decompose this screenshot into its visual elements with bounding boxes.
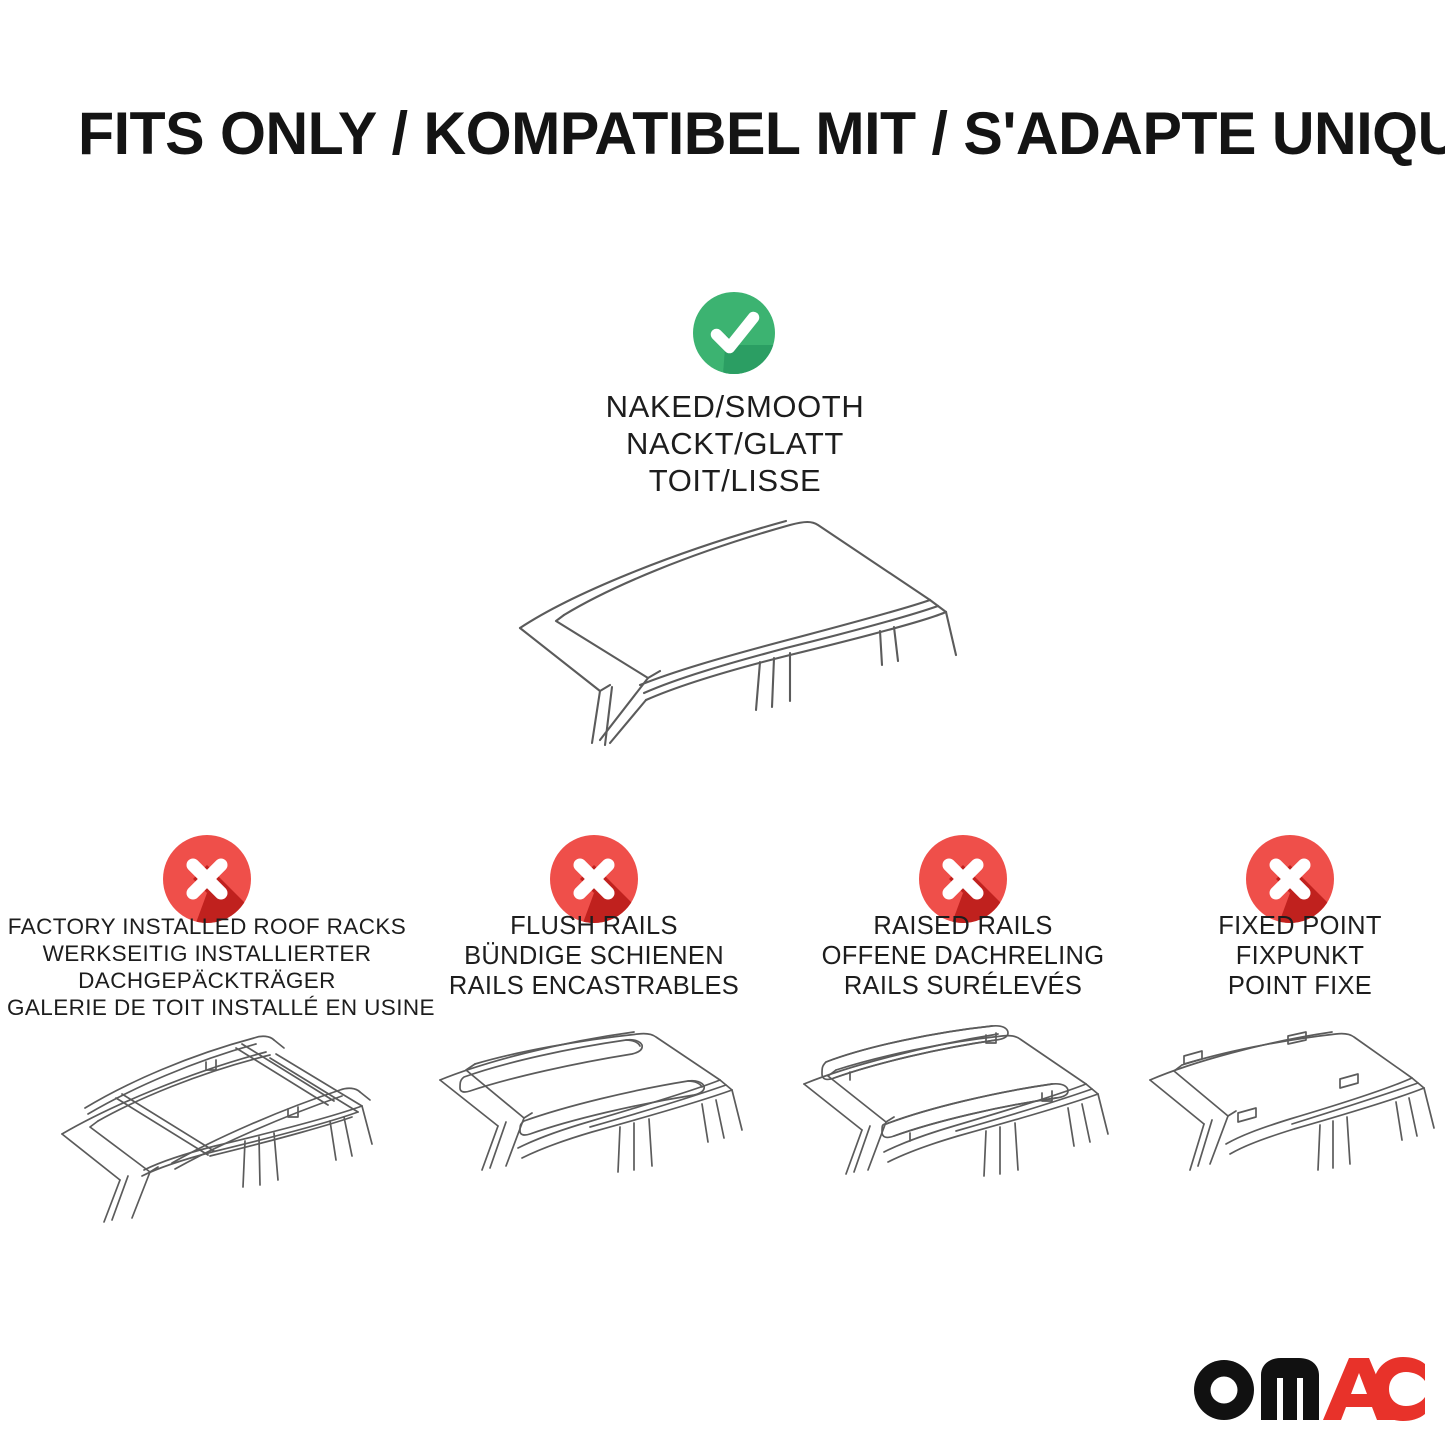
compatible-label: NAKED/SMOOTH NACKT/GLATT TOIT/LISSE <box>475 388 995 499</box>
label-line-1: FACTORY INSTALLED ROOF RACKS <box>7 913 407 940</box>
compatible-label-line-2: NACKT/GLATT <box>475 425 995 462</box>
infographic-canvas: FITS ONLY / KOMPATIBEL MIT / S'ADAPTE UN… <box>0 0 1445 1445</box>
incompatible-label-raised-rails: RAISED RAILS OFFENE DACHRELING RAILS SUR… <box>773 911 1153 1001</box>
label-line-1: FLUSH RAILS <box>404 911 784 941</box>
label-line-3: DACHGEPÄCKTRÄGER <box>7 967 407 994</box>
car-roof-raised-rails-illustration <box>790 1022 1150 1242</box>
incompatible-label-flush-rails: FLUSH RAILS BÜNDIGE SCHIENEN RAILS ENCAS… <box>404 911 784 1001</box>
label-line-2: OFFENE DACHRELING <box>773 941 1153 971</box>
car-roof-naked-smooth-illustration <box>460 495 1000 750</box>
label-line-3: POINT FIXE <box>1110 971 1445 1001</box>
car-roof-factory-rack-illustration <box>40 1022 400 1242</box>
incompatible-label-fixed-point: FIXED POINT FIXPUNKT POINT FIXE <box>1110 911 1445 1001</box>
check-circle-icon <box>692 291 782 381</box>
compatible-label-line-3: TOIT/LISSE <box>475 462 995 499</box>
logo-letter-c <box>1373 1357 1425 1421</box>
label-line-4: GALERIE DE TOIT INSTALLÉ EN USINE <box>7 994 407 1021</box>
car-roof-flush-rails-illustration <box>420 1022 780 1242</box>
logo-letter-o <box>1194 1360 1254 1420</box>
label-line-2: FIXPUNKT <box>1110 941 1445 971</box>
label-line-3: RAILS SURÉLEVÉS <box>773 971 1153 1001</box>
page-title: FITS ONLY / KOMPATIBEL MIT / S'ADAPTE UN… <box>78 103 1359 165</box>
label-line-2: WERKSEITIG INSTALLIERTER <box>7 940 407 967</box>
label-line-2: BÜNDIGE SCHIENEN <box>404 941 784 971</box>
incompatible-label-factory-installed-roof-racks: FACTORY INSTALLED ROOF RACKS WERKSEITIG … <box>7 913 407 1021</box>
car-roof-fixed-point-illustration <box>1140 1022 1445 1242</box>
omac-logo <box>1193 1352 1425 1424</box>
logo-letter-m <box>1261 1358 1319 1420</box>
label-line-3: RAILS ENCASTRABLES <box>404 971 784 1001</box>
compatible-label-line-1: NAKED/SMOOTH <box>475 388 995 425</box>
label-line-1: RAISED RAILS <box>773 911 1153 941</box>
label-line-1: FIXED POINT <box>1110 911 1445 941</box>
